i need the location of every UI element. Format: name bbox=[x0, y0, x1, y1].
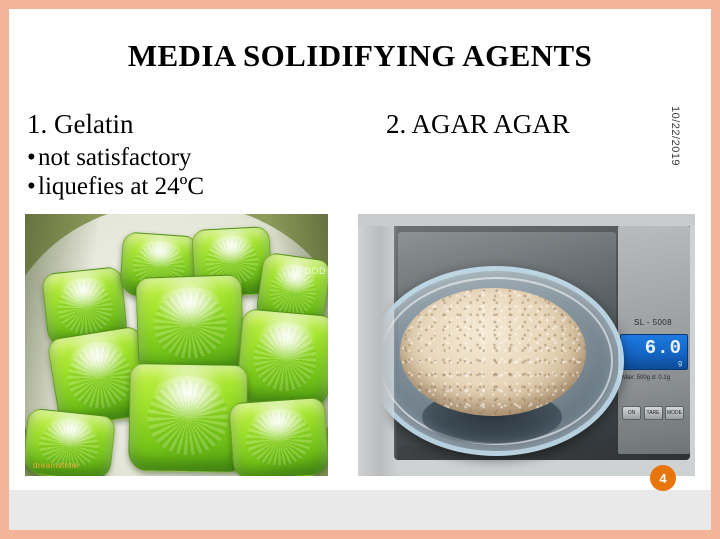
border-top bbox=[0, 0, 720, 9]
slide-canvas: MEDIA SOLIDIFYING AGENTS 1. Gelatin •not… bbox=[9, 9, 711, 530]
mold-ridges bbox=[55, 279, 115, 336]
mold-ridges bbox=[147, 380, 229, 456]
scale-weight-value: 6.0 bbox=[645, 339, 682, 358]
scale-button-row: ON TARE MODE bbox=[622, 406, 684, 420]
photo-top-edge bbox=[358, 214, 695, 226]
border-left bbox=[0, 0, 9, 539]
page-title: MEDIA SOLIDIFYING AGENTS bbox=[9, 38, 711, 74]
photo-watermark: dreamstime bbox=[33, 461, 79, 470]
gelatin-mold bbox=[228, 397, 328, 476]
photo-side-label: FOOD bbox=[298, 266, 326, 276]
scale-power-button: ON bbox=[622, 406, 641, 420]
border-right bbox=[711, 0, 720, 539]
list-item: •not satisfactory bbox=[27, 144, 191, 172]
bullet-marker-icon: • bbox=[27, 144, 38, 172]
footer-band bbox=[9, 490, 711, 530]
mold-ridges bbox=[251, 324, 319, 394]
photo-left-edge bbox=[358, 214, 398, 476]
gelatin-photo: FOOD dreamstime bbox=[25, 214, 328, 476]
mold-ridges bbox=[152, 290, 227, 360]
left-column-heading: 1. Gelatin bbox=[27, 109, 133, 140]
agar-on-scale-photo: SL - 5008 6.0 g Max: 500g d: 0.1g ON TAR… bbox=[358, 214, 695, 476]
right-column-heading: 2. AGAR AGAR bbox=[386, 109, 570, 140]
list-item: •liquefies at 24ºC bbox=[27, 173, 204, 201]
slide: MEDIA SOLIDIFYING AGENTS 1. Gelatin •not… bbox=[0, 0, 720, 539]
date-stamp: 10/22/2019 bbox=[667, 106, 681, 166]
scale-spec-label: Max: 500g d: 0.1g bbox=[622, 374, 684, 383]
scale-brand-label: SL - 5008 bbox=[622, 318, 684, 327]
gelatin-mold bbox=[235, 308, 328, 410]
mold-ridges bbox=[244, 410, 313, 468]
scale-tare-button: TARE bbox=[644, 406, 663, 420]
agar-granule-texture bbox=[400, 288, 586, 416]
bullet-marker-icon: • bbox=[27, 173, 38, 201]
scale-lcd-display: 6.0 g bbox=[620, 334, 688, 370]
mold-ridges bbox=[63, 342, 136, 413]
list-item-label: not satisfactory bbox=[38, 144, 191, 171]
scale-mode-button: MODE bbox=[665, 406, 684, 420]
agar-powder-heap bbox=[400, 288, 586, 416]
list-item-label: liquefies at 24ºC bbox=[38, 173, 204, 200]
gelatin-mold bbox=[135, 274, 244, 376]
border-bottom bbox=[0, 530, 720, 539]
scale-weight-unit: g bbox=[678, 360, 682, 367]
page-number-badge: 4 bbox=[650, 465, 676, 491]
